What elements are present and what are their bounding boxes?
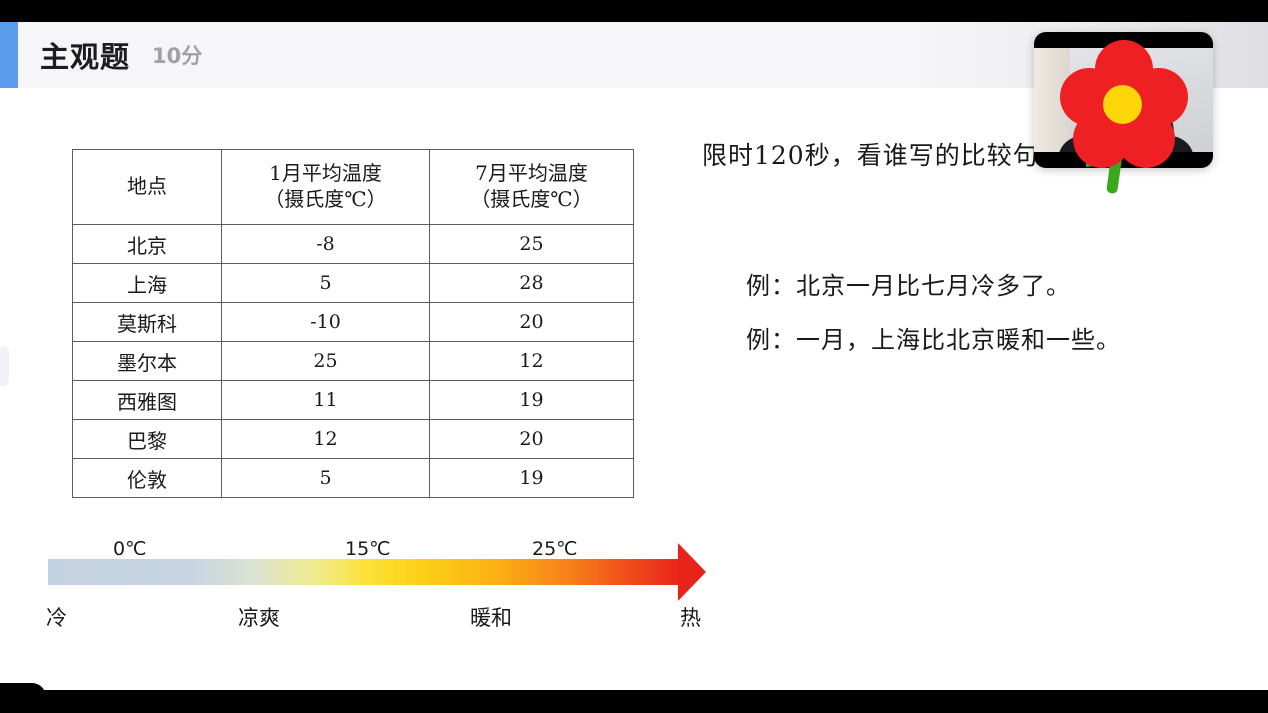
letterbox-top-bar bbox=[0, 0, 1268, 22]
table-row: 墨尔本 25 12 bbox=[73, 342, 634, 381]
temperature-scale: 0℃ 15℃ 25℃ 冷 凉爽 暖和 热 bbox=[0, 88, 760, 228]
scale-word-hot: 热 bbox=[680, 602, 701, 632]
score-label: 10分 bbox=[152, 40, 202, 70]
scale-word-cool: 凉爽 bbox=[238, 602, 280, 632]
cell-jul: 28 bbox=[430, 264, 634, 303]
example-sentence-2: 例：一月，上海比北京暖和一些。 bbox=[746, 320, 1121, 355]
cell-place: 北京 bbox=[73, 225, 222, 264]
table-row: 上海 5 28 bbox=[73, 264, 634, 303]
table-row: 莫斯科 -10 20 bbox=[73, 303, 634, 342]
cell-place: 巴黎 bbox=[73, 420, 222, 459]
letterbox-bottom-bar bbox=[0, 690, 1268, 713]
cell-place: 伦敦 bbox=[73, 459, 222, 498]
cell-jan: 25 bbox=[222, 342, 430, 381]
cell-jan: 12 bbox=[222, 420, 430, 459]
cell-jul: 19 bbox=[430, 381, 634, 420]
arrow-head-icon bbox=[678, 543, 706, 601]
cell-place: 西雅图 bbox=[73, 381, 222, 420]
cell-jan: -8 bbox=[222, 225, 430, 264]
cell-jan: -10 bbox=[222, 303, 430, 342]
cell-jul: 19 bbox=[430, 459, 634, 498]
header-accent-bar bbox=[0, 22, 18, 88]
cell-jul: 12 bbox=[430, 342, 634, 381]
example-sentence-1: 例：北京一月比七月冷多了。 bbox=[746, 266, 1071, 301]
scale-tick-0: 0℃ bbox=[113, 538, 146, 560]
cell-jan: 11 bbox=[222, 381, 430, 420]
scale-word-cold: 冷 bbox=[46, 602, 67, 632]
scale-tick-15: 15℃ bbox=[345, 538, 391, 560]
table-row: 伦敦 5 19 bbox=[73, 459, 634, 498]
cell-jan: 5 bbox=[222, 459, 430, 498]
cell-place: 莫斯科 bbox=[73, 303, 222, 342]
cell-place: 上海 bbox=[73, 264, 222, 303]
scale-tick-25: 25℃ bbox=[532, 538, 578, 560]
temperature-gradient-bar bbox=[48, 559, 682, 585]
cell-jan: 5 bbox=[222, 264, 430, 303]
page-title: 主观题 bbox=[40, 34, 130, 76]
cell-jul: 20 bbox=[430, 420, 634, 459]
table-row: 北京 -8 25 bbox=[73, 225, 634, 264]
table-row: 巴黎 12 20 bbox=[73, 420, 634, 459]
left-panel-handle[interactable] bbox=[0, 346, 9, 386]
flower-center bbox=[1103, 85, 1142, 124]
cell-jul: 20 bbox=[430, 303, 634, 342]
flower-sticker-icon bbox=[1058, 38, 1190, 194]
cell-place: 墨尔本 bbox=[73, 342, 222, 381]
cell-jul: 25 bbox=[430, 225, 634, 264]
bottom-left-control-nub[interactable] bbox=[0, 683, 46, 713]
scale-word-warm: 暖和 bbox=[470, 602, 512, 632]
table-row: 西雅图 11 19 bbox=[73, 381, 634, 420]
